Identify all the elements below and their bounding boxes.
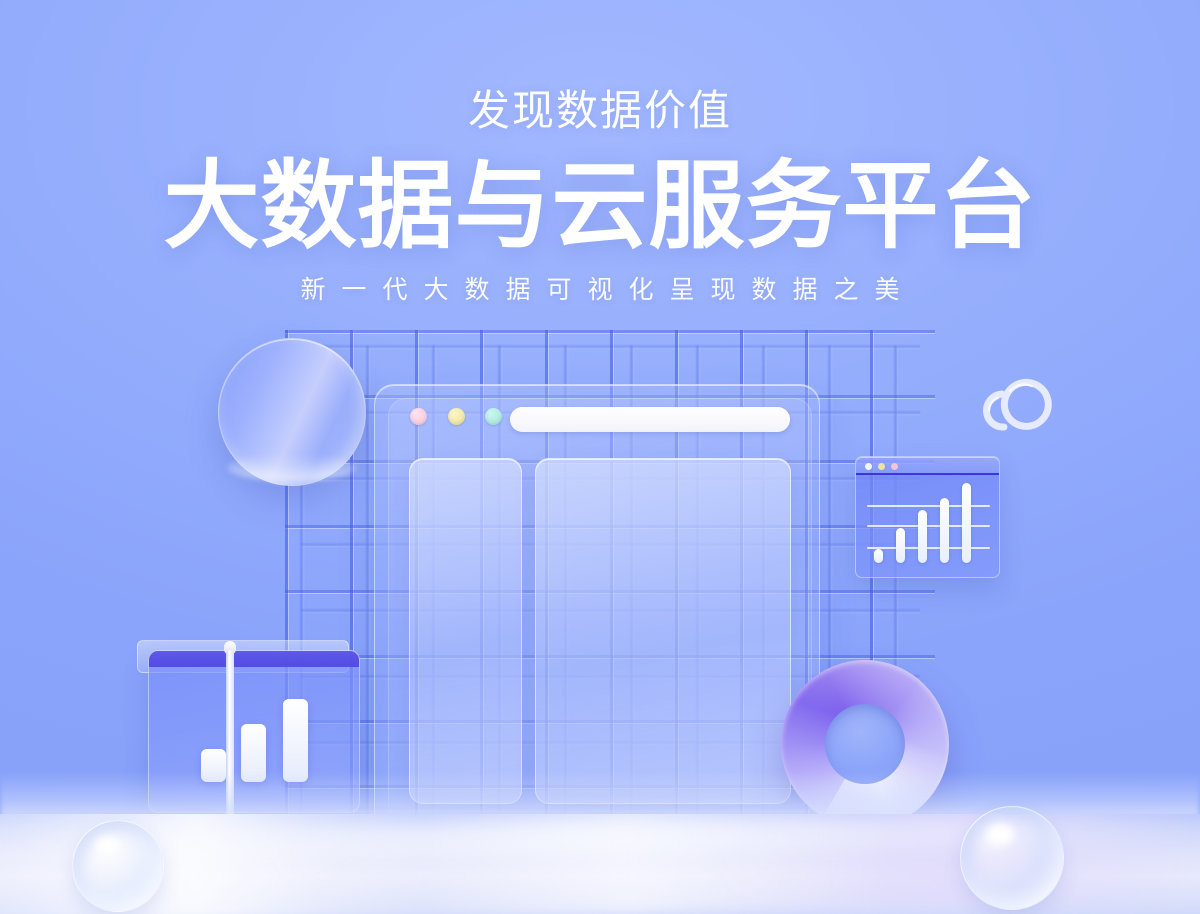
minimize-dot[interactable] [878,463,885,470]
mini-chart-window[interactable] [855,456,1000,578]
hero-text-block: 发现数据价值 大数据与云服务平台 新一代大数据可视化呈现数据之美 [0,0,1200,303]
sphere-highlight [988,825,1015,843]
hero-tagline: 新一代大数据可视化呈现数据之美 [0,278,1200,303]
hero-headline: 大数据与云服务平台 [0,158,1200,256]
glass-sphere-right [960,806,1064,910]
chart-gridline [867,547,990,549]
maximize-dot[interactable] [891,463,898,470]
chart-gridline [867,505,990,507]
sphere-highlight [96,837,119,853]
close-dot[interactable] [410,408,427,425]
glass-sphere-left [72,820,164,912]
cloud-icon [972,368,1064,442]
glass-disc [218,338,366,486]
hero-scene: 发现数据价值 大数据与云服务平台 新一代大数据可视化呈现数据之美 [0,0,1200,914]
maximize-dot[interactable] [485,408,502,425]
mini-chart-bar [874,549,883,563]
mini-chart-bar [918,510,927,563]
sidebar-panel[interactable] [409,458,522,804]
address-bar-input[interactable] [510,407,790,432]
mini-chart-bar [896,528,905,563]
close-dot[interactable] [865,463,872,470]
hero-eyebrow: 发现数据价值 [0,90,1200,132]
minimize-dot[interactable] [448,408,465,425]
chart-gridline [867,525,990,527]
mini-window-titlebar [856,457,999,475]
mini-chart-bar [940,498,949,563]
content-panel[interactable] [535,458,791,804]
bar-chart-bar [283,699,308,782]
mini-chart-bar [962,483,971,563]
